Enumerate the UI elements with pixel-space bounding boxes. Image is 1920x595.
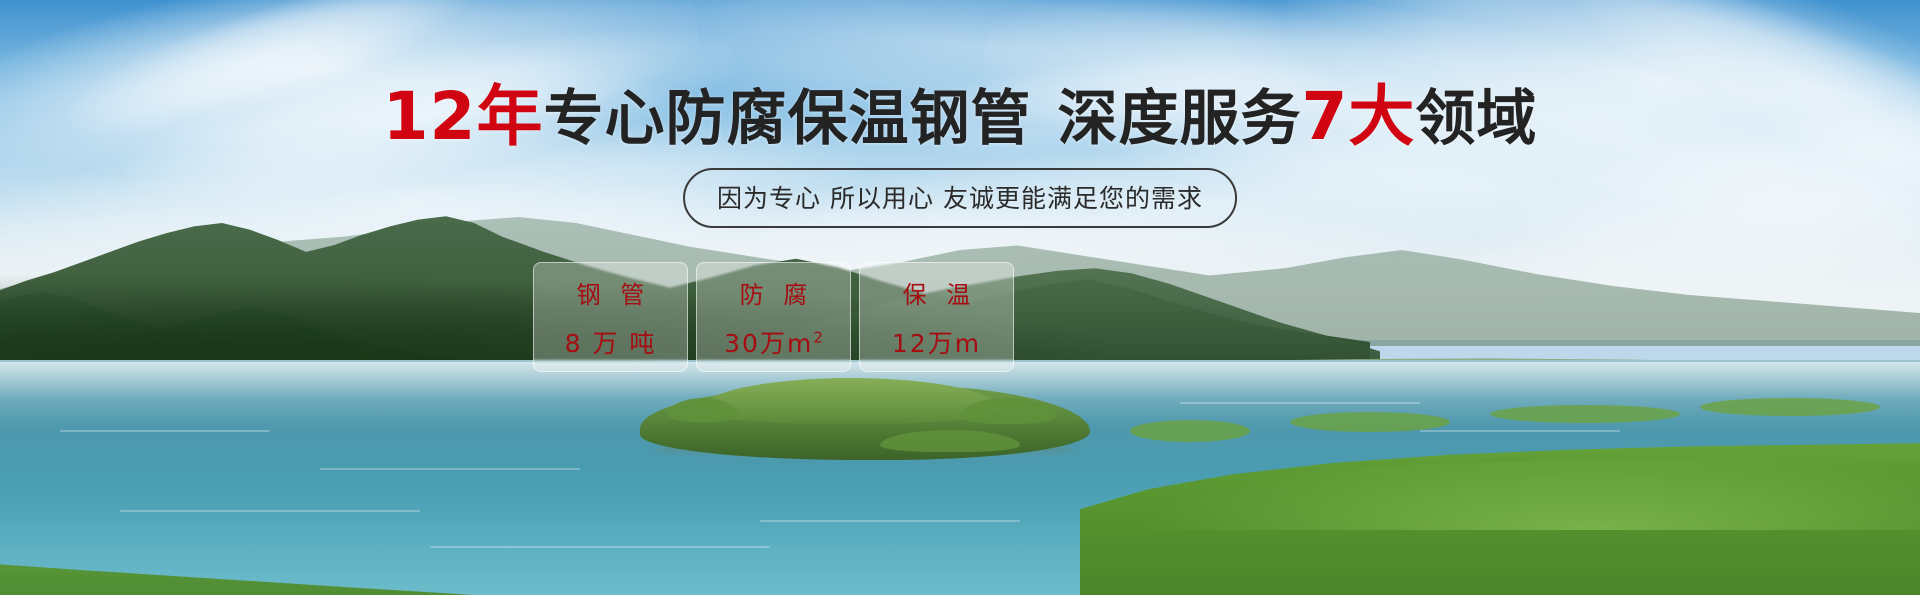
marsh-patch xyxy=(1290,412,1450,432)
headline-tail-text: 领域 xyxy=(1415,84,1537,154)
stat-card-value-sup: 2 xyxy=(813,328,823,346)
headline-seven-number: 7大 xyxy=(1301,78,1415,155)
stat-card-value: 30万m2 xyxy=(724,324,823,360)
headline-gap-text: 深度服务 xyxy=(1057,84,1301,154)
stat-card-value-text: 30万m xyxy=(724,329,813,358)
water-ripple xyxy=(320,468,580,470)
subtitle-pill-text: 因为专心 所以用心 友诚更能满足您的需求 xyxy=(717,184,1203,213)
stat-card-steel-pipe[interactable]: 钢 管 8 万 吨 xyxy=(533,262,688,372)
subtitle-pill: 因为专心 所以用心 友诚更能满足您的需求 xyxy=(683,168,1237,228)
stat-card-label: 钢 管 xyxy=(571,275,651,310)
banner-headline: 12年专心防腐保温钢管深度服务7大领域 xyxy=(0,84,1920,150)
stat-card-insulation[interactable]: 保 温 12万m xyxy=(859,262,1014,372)
headline-years-number: 12年 xyxy=(383,78,544,155)
marsh-patch xyxy=(1130,420,1250,442)
headline-main-text: 专心防腐保温钢管 xyxy=(543,84,1031,154)
water-ripple xyxy=(120,510,420,512)
water-ripple xyxy=(760,520,1020,522)
water-ripple xyxy=(1180,402,1420,404)
stat-card-anticorrosion[interactable]: 防 腐 30万m2 xyxy=(696,262,851,372)
marsh-patch xyxy=(1490,405,1680,423)
water-ripple xyxy=(430,546,770,548)
stat-card-group: 钢 管 8 万 吨 防 腐 30万m2 保 温 12万m xyxy=(533,262,1014,372)
water-ripple xyxy=(60,430,270,432)
hero-banner: 12年专心防腐保温钢管深度服务7大领域 因为专心 所以用心 友诚更能满足您的需求… xyxy=(0,0,1920,595)
stat-card-value: 8 万 吨 xyxy=(565,324,657,360)
stat-card-label: 保 温 xyxy=(897,275,977,310)
stat-card-value-text: 8 万 吨 xyxy=(565,329,657,358)
water-ripple xyxy=(1420,430,1620,432)
stat-card-value: 12万m xyxy=(892,324,981,360)
marsh-patch xyxy=(1700,398,1880,416)
stat-card-value-text: 12万m xyxy=(892,329,981,358)
stat-card-label: 防 腐 xyxy=(734,275,814,310)
